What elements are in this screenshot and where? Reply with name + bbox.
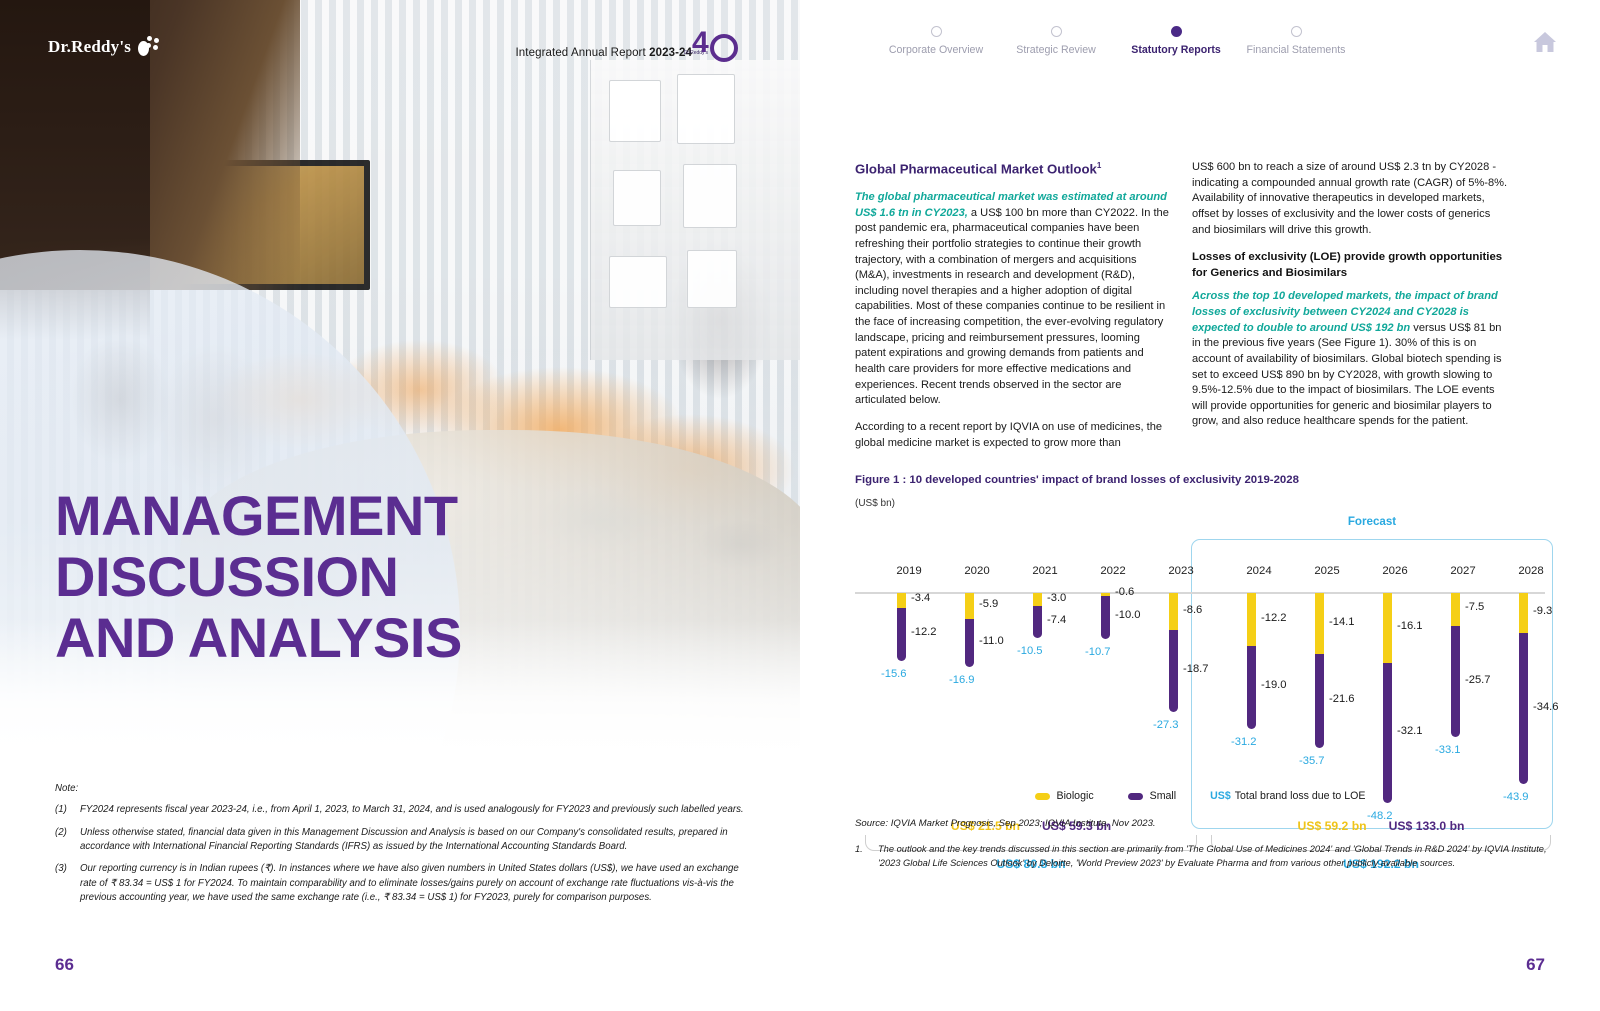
anniversary-logo: Years of Dr.Reddy's 4 xyxy=(692,26,740,74)
bar-value-total: -10.7 xyxy=(1085,646,1111,658)
bar-value-biologic: -3.0 xyxy=(1047,592,1066,604)
footnote: 1. The outlook and the key trends discus… xyxy=(855,843,1555,871)
home-icon[interactable] xyxy=(1532,30,1558,54)
bar-value-biologic: -7.5 xyxy=(1465,601,1484,613)
footnote-text: The outlook and the key trends discussed… xyxy=(878,843,1555,871)
bar-stack xyxy=(1247,593,1256,729)
bar-segment-small xyxy=(965,619,974,667)
bar-segment-small xyxy=(1451,626,1460,738)
section-heading-text: Global Pharmaceutical Market Outlook xyxy=(855,161,1097,176)
bar-value-small: -11.0 xyxy=(979,635,1004,647)
bar-segment-small xyxy=(897,608,906,661)
bar-segment-small xyxy=(1033,606,1042,638)
notes-block: Note: (1) FY2024 represents fiscal year … xyxy=(55,782,745,914)
paragraph-4-rest: versus US$ 81 bn in the previous five ye… xyxy=(1192,322,1502,428)
bar-stack xyxy=(1451,593,1460,737)
chart-legend: Biologic Small US$Total brand loss due t… xyxy=(855,790,1545,802)
bar-stack xyxy=(1315,593,1324,748)
bar-value-biologic: -14.1 xyxy=(1329,616,1355,628)
note-item: (3) Our reporting currency is in Indian … xyxy=(55,862,745,905)
notes-heading: Note: xyxy=(55,782,745,796)
bar-value-small: -18.7 xyxy=(1183,663,1209,675)
note-number: (3) xyxy=(55,862,73,905)
bar-value-total: -35.7 xyxy=(1299,755,1325,767)
nav-label: Financial Statements xyxy=(1216,44,1376,56)
nav-dot-icon xyxy=(1051,26,1062,37)
bar-value-small: -7.4 xyxy=(1047,614,1066,626)
anniversary-number: 4 xyxy=(692,28,709,58)
note-text: FY2024 represents fiscal year 2023-24, i… xyxy=(80,803,745,817)
chart-plot-area: Forecast 2019-3.4-12.2-15.62020-5.9-11.0… xyxy=(855,513,1545,823)
note-number: (2) xyxy=(55,826,73,855)
figure-title: Figure 1 : 10 developed countries' impac… xyxy=(855,474,1545,486)
page-number-left: 66 xyxy=(55,955,74,975)
legend-label-biologic: Biologic xyxy=(1057,790,1094,802)
forecast-label: Forecast xyxy=(1191,515,1553,528)
bar-value-biologic: -12.2 xyxy=(1261,612,1287,624)
bar-value-total: -15.6 xyxy=(881,668,907,680)
brand-mark-icon xyxy=(138,36,160,58)
bar-value-small: -32.1 xyxy=(1397,725,1423,737)
paragraph-1-rest: a US$ 100 bn more than CY2022. In the po… xyxy=(855,207,1169,407)
bar-value-small: -25.7 xyxy=(1465,674,1491,686)
page-number-right: 67 xyxy=(1526,955,1545,975)
figure-unit-label: (US$ bn) xyxy=(855,498,1545,509)
bar-segment-biologic xyxy=(1247,593,1256,646)
chart-baseline-axis xyxy=(855,592,1545,594)
legend-label-small: Small xyxy=(1150,790,1177,802)
section-heading: Global Pharmaceutical Market Outlook1 xyxy=(855,160,1170,179)
bar-value-biologic: -9.3 xyxy=(1533,605,1552,617)
dr-reddys-logo: Dr.Reddy's xyxy=(48,36,160,58)
bar-value-biologic: -16.1 xyxy=(1397,620,1423,632)
bar-segment-small xyxy=(1519,633,1528,784)
bar-value-small: -19.0 xyxy=(1261,679,1287,691)
bar-value-total: -16.9 xyxy=(949,674,975,686)
nav-item-financial-statements[interactable]: Financial Statements xyxy=(1216,26,1376,56)
bar-segment-biologic xyxy=(1315,593,1324,654)
note-item: (2) Unless otherwise stated, financial d… xyxy=(55,826,745,855)
brand-wordmark: Dr.Reddy's xyxy=(48,37,131,57)
bar-value-small: -10.0 xyxy=(1115,609,1141,621)
bar-value-total: -33.1 xyxy=(1435,744,1461,756)
legend-item-total: US$Total brand loss due to LOE xyxy=(1210,790,1365,802)
bar-value-biologic: -0.6 xyxy=(1115,586,1134,598)
bar-segment-biologic xyxy=(1169,593,1178,630)
paragraph-1: The global pharmaceutical market was est… xyxy=(855,190,1170,409)
bar-stack xyxy=(1519,593,1528,784)
footnote-number: 1. xyxy=(855,843,871,871)
paragraph-4: Across the top 10 developed markets, the… xyxy=(1192,289,1510,430)
legend-item-biologic: Biologic xyxy=(1035,790,1094,802)
note-item: (1) FY2024 represents fiscal year 2023-2… xyxy=(55,803,745,817)
section-nav: Corporate Overview Strategic Review Stat… xyxy=(800,26,1600,72)
bar-value-small: -12.2 xyxy=(911,626,937,638)
legend-label-total: Total brand loss due to LOE xyxy=(1235,790,1366,802)
bar-stack xyxy=(897,593,906,661)
bar-value-small: -21.6 xyxy=(1329,693,1355,705)
bar-stack xyxy=(1033,593,1042,638)
note-text: Our reporting currency is in Indian rupe… xyxy=(80,862,745,905)
legend-swatch-small-icon xyxy=(1128,793,1143,800)
bar-segment-small xyxy=(1315,654,1324,748)
bar-segment-biologic xyxy=(965,593,974,619)
chart-source: Source: IQVIA Market Prognosis, Sep 2023… xyxy=(855,818,1545,829)
report-tag-prefix: Integrated Annual Report xyxy=(516,47,650,59)
text-column-right: US$ 600 bn to reach a size of around US$… xyxy=(1192,160,1510,441)
paragraph-2: According to a recent report by IQVIA on… xyxy=(855,420,1170,451)
legend-item-small: Small xyxy=(1128,790,1177,802)
legend-usd-marker: US$ xyxy=(1210,790,1231,802)
right-page: Corporate Overview Strategic Review Stat… xyxy=(800,0,1600,1011)
bar-value-small: -34.6 xyxy=(1533,701,1559,713)
bar-segment-biologic xyxy=(1519,593,1528,633)
bar-segment-small xyxy=(1383,663,1392,803)
bar-segment-biologic xyxy=(897,593,906,608)
bar-stack xyxy=(1169,593,1178,712)
section-heading-superscript: 1 xyxy=(1097,161,1101,170)
sub-heading: Losses of exclusivity (LOE) provide grow… xyxy=(1192,249,1510,281)
bar-stack xyxy=(965,593,974,667)
bar-value-total: -10.5 xyxy=(1017,645,1043,657)
bar-year-label: 2028 xyxy=(1485,565,1577,577)
text-column-left: Global Pharmaceutical Market Outlook1 Th… xyxy=(855,160,1170,462)
bar-value-biologic: -5.9 xyxy=(979,598,998,610)
legend-swatch-biologic-icon xyxy=(1035,793,1050,800)
left-page: Dr.Reddy's Integrated Annual Report 2023… xyxy=(0,0,800,1011)
bar-value-biologic: -3.4 xyxy=(911,592,930,604)
bar-segment-small xyxy=(1169,630,1178,711)
bar-value-total: -31.2 xyxy=(1231,736,1257,748)
bar-segment-biologic xyxy=(1383,593,1392,663)
bar-stack xyxy=(1101,593,1110,639)
bar-segment-small xyxy=(1101,596,1110,640)
bar-segment-biologic xyxy=(1451,593,1460,626)
bar-stack xyxy=(1383,593,1392,803)
nav-dot-icon xyxy=(931,26,942,37)
anniversary-ring-icon xyxy=(710,34,738,62)
paragraph-3: US$ 600 bn to reach a size of around US$… xyxy=(1192,160,1510,238)
bar-segment-biologic xyxy=(1033,593,1042,606)
note-number: (1) xyxy=(55,803,73,817)
bar-value-total: -27.3 xyxy=(1153,719,1179,731)
two-page-spread: Dr.Reddy's Integrated Annual Report 2023… xyxy=(0,0,1600,1011)
nav-dot-icon-active xyxy=(1171,26,1182,37)
bar-segment-small xyxy=(1247,646,1256,729)
bar-value-biologic: -8.6 xyxy=(1183,604,1202,616)
nav-dot-icon xyxy=(1291,26,1302,37)
page-title: MANAGEMENT DISCUSSION AND ANALYSIS xyxy=(55,485,525,668)
forecast-region xyxy=(1191,539,1553,829)
note-text: Unless otherwise stated, financial data … xyxy=(80,826,745,855)
